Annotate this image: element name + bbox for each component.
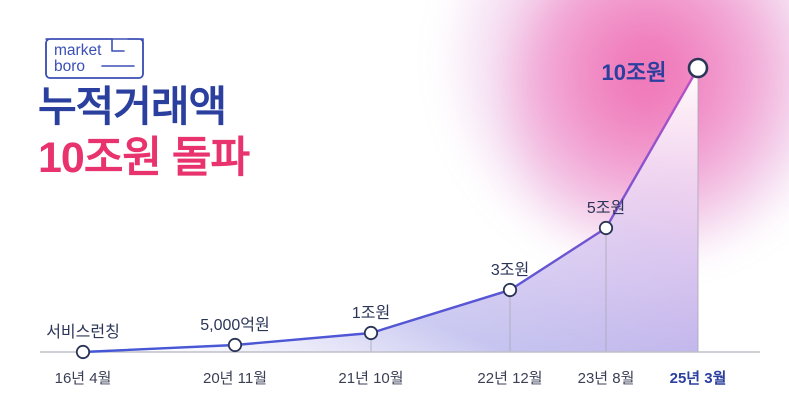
point-value-label: 서비스런칭 xyxy=(46,318,120,342)
background-glow-primary xyxy=(439,0,789,270)
x-axis-label: 20년 11월 xyxy=(203,367,267,388)
point-value-label: 10조원 xyxy=(602,55,667,87)
x-axis-label: 22년 12월 xyxy=(477,367,542,388)
x-axis-label: 25년 3월 xyxy=(670,367,727,388)
data-point-marker[interactable] xyxy=(229,339,241,351)
logo-text-boro: boro xyxy=(54,58,85,75)
data-point-marker[interactable] xyxy=(600,222,612,234)
x-axis-label: 16년 4월 xyxy=(55,367,112,388)
point-value-label: 1조원 xyxy=(352,299,390,323)
data-point-marker[interactable] xyxy=(504,284,516,296)
point-value-label: 3조원 xyxy=(491,256,529,280)
point-value-label: 5,000억원 xyxy=(200,311,269,335)
data-point-marker[interactable] xyxy=(689,59,707,77)
logo-text-market: market xyxy=(54,42,102,59)
marketboro-logo: market boro xyxy=(42,33,147,80)
data-point-marker[interactable] xyxy=(365,327,377,339)
x-axis-label: 21년 10월 xyxy=(338,367,403,388)
headline-block: 누적거래액 10조원 돌파 xyxy=(38,86,249,180)
data-point-marker[interactable] xyxy=(77,346,89,358)
droplines-group xyxy=(371,68,698,352)
background-glow-secondary xyxy=(509,0,789,270)
x-axis-label: 23년 8월 xyxy=(578,367,635,388)
headline-line-2: 10조원 돌파 xyxy=(38,137,249,180)
logo-mark: market boro xyxy=(42,33,147,80)
headline-line-1: 누적거래액 xyxy=(38,86,249,128)
point-value-label: 5조원 xyxy=(587,194,625,218)
